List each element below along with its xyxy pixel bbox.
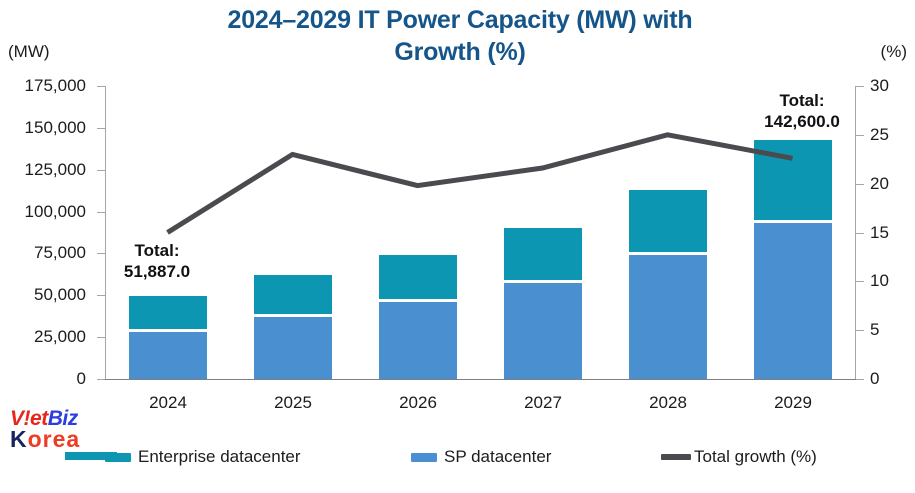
left-axis-tick	[97, 86, 105, 87]
legend-item-enterprise-datacenter: Enterprise datacenter	[105, 447, 301, 467]
left-axis-tick-label: 125,000	[0, 160, 86, 180]
logo-accent-bar	[65, 452, 117, 460]
logo-line-korea: Korea	[10, 428, 80, 451]
callout-2024-value: 51,887.0	[92, 261, 222, 282]
right-axis-tick	[856, 135, 864, 136]
x-axis-label: 2027	[483, 393, 603, 413]
right-axis-tick	[856, 330, 864, 331]
bar-segment-sp[interactable]	[254, 317, 332, 379]
left-axis-tick-label: 150,000	[0, 118, 86, 138]
bar-segment-enterprise[interactable]	[504, 228, 582, 280]
bar-group[interactable]	[754, 140, 832, 379]
x-axis-label: 2024	[108, 393, 228, 413]
left-axis-tick-label: 50,000	[0, 285, 86, 305]
right-axis-tick	[856, 86, 864, 87]
bar-group[interactable]	[254, 275, 332, 379]
right-axis-tick	[856, 281, 864, 282]
right-axis-tick-label: 5	[870, 320, 910, 340]
left-axis-tick	[97, 379, 105, 380]
x-axis-label: 2028	[608, 393, 728, 413]
bar-segment-sp[interactable]	[754, 223, 832, 379]
left-axis-tick	[97, 170, 105, 171]
bar-segment-sp[interactable]	[629, 255, 707, 379]
callout-2029-label: Total:	[722, 90, 882, 111]
legend-label-sp: SP datacenter	[444, 447, 551, 467]
callout-2024-label: Total:	[92, 240, 222, 261]
chart-page: 2024–2029 IT Power Capacity (MW) with Gr…	[0, 0, 915, 493]
x-axis-label: 2029	[733, 393, 853, 413]
bar-segment-sp[interactable]	[504, 283, 582, 379]
right-axis-tick-label: 0	[870, 369, 910, 389]
left-axis-tick-label: 0	[0, 369, 86, 389]
legend-swatch-icon-sp	[411, 453, 437, 462]
callout-2029-value: 142,600.0	[722, 111, 882, 132]
bar-group[interactable]	[379, 255, 457, 379]
bar-segment-enterprise[interactable]	[754, 140, 832, 220]
bar-segment-enterprise[interactable]	[379, 255, 457, 299]
bar-segment-sp[interactable]	[379, 302, 457, 379]
bar-segment-enterprise[interactable]	[629, 190, 707, 252]
legend-label-total-growth: Total growth (%)	[694, 447, 817, 467]
right-axis-tick-label: 20	[870, 174, 910, 194]
left-axis-tick	[97, 212, 105, 213]
left-axis-tick-label: 25,000	[0, 327, 86, 347]
left-axis-unit: (MW)	[8, 42, 50, 62]
left-axis-line	[105, 86, 106, 380]
right-axis-tick	[856, 379, 864, 380]
legend-item-sp-datacenter: SP datacenter	[411, 447, 551, 467]
bar-group[interactable]	[629, 190, 707, 379]
title-line-2: Growth (%)	[110, 36, 810, 68]
logo-letters-orea: orea	[28, 426, 81, 452]
right-axis-tick-label: 10	[870, 271, 910, 291]
bar-group[interactable]	[129, 296, 207, 379]
callout-2024: Total: 51,887.0	[92, 240, 222, 282]
right-axis-tick-label: 15	[870, 223, 910, 243]
x-axis-line	[105, 379, 856, 380]
vietbiz-korea-logo: V!etBiz Korea	[8, 408, 118, 460]
legend-line-icon-total-growth	[661, 454, 691, 460]
x-axis-label: 2026	[358, 393, 478, 413]
left-axis-tick	[97, 295, 105, 296]
logo-letter-k: K	[10, 426, 28, 452]
left-axis-tick-label: 75,000	[0, 243, 86, 263]
legend-label-enterprise: Enterprise datacenter	[138, 447, 301, 467]
page-title: 2024–2029 IT Power Capacity (MW) with Gr…	[110, 4, 810, 68]
bar-group[interactable]	[504, 228, 582, 379]
chart-legend: Enterprise datacenter SP datacenter Tota…	[105, 445, 865, 475]
right-axis-unit: (%)	[881, 42, 907, 62]
title-line-1: 2024–2029 IT Power Capacity (MW) with	[110, 4, 810, 36]
left-axis-tick-label: 175,000	[0, 76, 86, 96]
right-axis-tick	[856, 184, 864, 185]
legend-item-total-growth: Total growth (%)	[661, 447, 817, 467]
x-axis-label: 2025	[233, 393, 353, 413]
left-axis-tick	[97, 128, 105, 129]
bar-segment-enterprise[interactable]	[254, 275, 332, 314]
bar-segment-sp[interactable]	[129, 332, 207, 379]
left-axis-tick-label: 100,000	[0, 202, 86, 222]
left-axis-tick	[97, 337, 105, 338]
right-axis-tick	[856, 233, 864, 234]
callout-2029: Total: 142,600.0	[722, 90, 882, 132]
bar-segment-enterprise[interactable]	[129, 296, 207, 329]
